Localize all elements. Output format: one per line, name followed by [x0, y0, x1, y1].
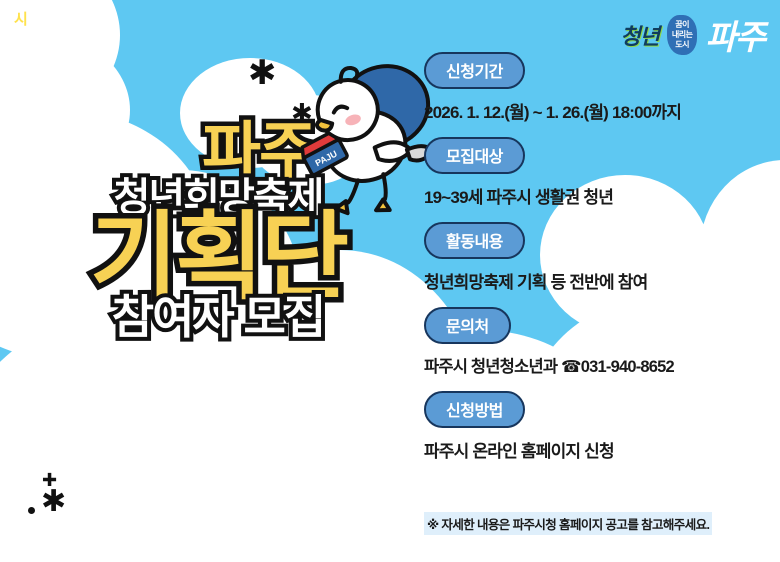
sparkle-icon: ✱ — [41, 487, 66, 517]
text-eligibility: 19~39세 파주시 생활권 청년 — [424, 183, 772, 208]
text-activities: 청년희망축제 기획 등 전반에 참여 — [424, 268, 772, 293]
info-panel: 신청기간 2026. 1. 12.(월) ~ 1. 26.(월) 18:00까지… — [424, 52, 772, 474]
info-row-activities: 활동내용 청년희망축제 기획 등 전반에 참여 — [424, 222, 772, 293]
info-row-eligibility: 모집대상 19~39세 파주시 생활권 청년 — [424, 137, 772, 208]
tagline-line-3: 도시 — [675, 40, 689, 49]
poster-canvas: ✱ ✱ ✚ ✱ 시민중심 더 큰 파주 청년 꿈이 내리는 도시 파주 — [0, 0, 780, 562]
slogan-line-1: 시민중심 — [14, 8, 101, 29]
info-row-contact: 문의처 파주시 청년청소년과 ☎031-940-8652 — [424, 307, 772, 377]
dot-decoration — [28, 507, 35, 514]
paju-calligraphy-text: 파주 — [705, 10, 764, 59]
slogan-main-word: 큰 파주 — [32, 37, 101, 64]
text-application-period: 2026. 1. 12.(월) ~ 1. 26.(월) 18:00까지 — [424, 98, 772, 123]
slogan-highlight-char: 시 — [14, 11, 27, 28]
slogan-small-word: 더 — [14, 45, 27, 62]
slogan-line-2: 더 큰 파주 — [14, 30, 101, 65]
tagline-line-2: 내리는 — [672, 30, 693, 39]
sparkle-icon: ✱ — [248, 56, 277, 90]
badge-eligibility: 모집대상 — [424, 137, 525, 174]
badge-activities: 활동내용 — [424, 222, 525, 259]
text-contact: 파주시 청년청소년과 ☎031-940-8652 — [424, 353, 772, 377]
badge-how-to-apply: 신청방법 — [424, 391, 525, 428]
tagline-line-1: 꿈이 — [675, 20, 689, 29]
badge-application-period: 신청기간 — [424, 52, 525, 89]
brush-stroke-tagline: 꿈이 내리는 도시 — [667, 15, 698, 55]
slogan-rest: 민중심 — [27, 11, 67, 28]
footer-note: ※ 자세한 내용은 파주시청 홈페이지 공고를 참고해주세요. — [424, 512, 712, 535]
text-how-to-apply: 파주시 온라인 홈페이지 신청 — [424, 437, 772, 462]
info-row-how-to-apply: 신청방법 파주시 온라인 홈페이지 신청 — [424, 391, 772, 462]
youth-logo-text: 청년 — [620, 19, 658, 51]
info-row-application-period: 신청기간 2026. 1. 12.(월) ~ 1. 26.(월) 18:00까지 — [424, 52, 772, 123]
paju-brand-logo: 청년 꿈이 내리는 도시 파주 — [620, 10, 764, 59]
badge-contact: 문의처 — [424, 307, 511, 344]
title-line-recruit: 참여자 모집 — [18, 294, 418, 340]
city-slogan-logo: 시민중심 더 큰 파주 — [14, 8, 101, 65]
